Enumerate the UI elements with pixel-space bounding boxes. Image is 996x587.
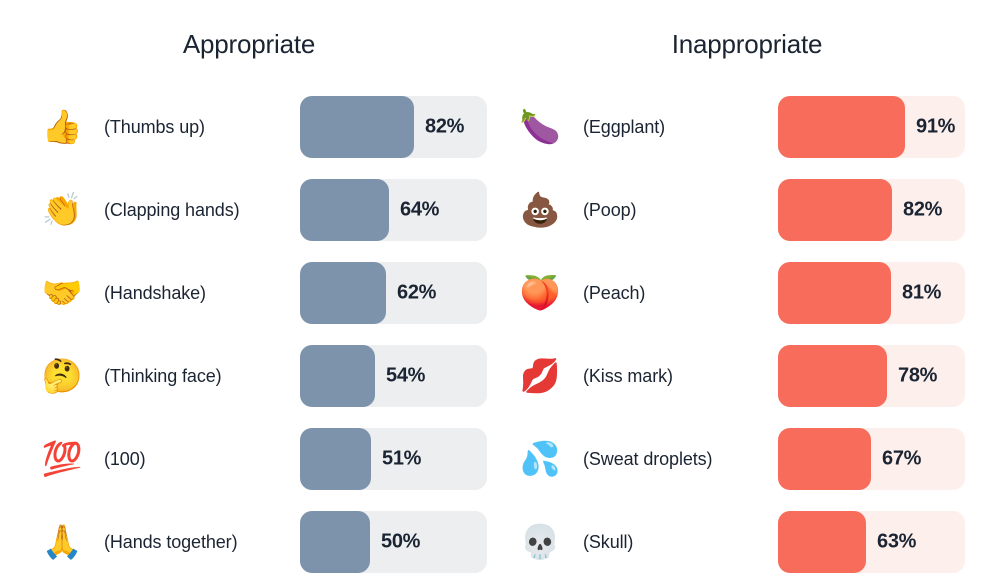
handshake-icon: 🤝 bbox=[40, 274, 84, 312]
bar-label: (Kiss mark) bbox=[583, 364, 673, 388]
bar-value: 78% bbox=[898, 364, 937, 387]
bar-fill bbox=[778, 96, 905, 158]
bar-fill bbox=[300, 428, 371, 490]
bar-label: (Thumbs up) bbox=[104, 115, 205, 139]
sweat-droplets-icon: 💦 bbox=[518, 440, 562, 478]
bar-track: 82% bbox=[300, 96, 487, 158]
bar-row: 🍆(Eggplant)91% bbox=[498, 85, 996, 168]
bar-row: 👍(Thumbs up)82% bbox=[0, 85, 498, 168]
bar-fill bbox=[300, 179, 389, 241]
bar-fill bbox=[300, 345, 375, 407]
kiss-mark-icon: 💋 bbox=[518, 357, 562, 395]
bar-row: 🙏(Hands together)50% bbox=[0, 500, 498, 583]
bar-track: 51% bbox=[300, 428, 487, 490]
bar-row: 👏(Clapping hands)64% bbox=[0, 168, 498, 251]
eggplant-icon: 🍆 bbox=[518, 108, 562, 146]
peach-icon: 🍑 bbox=[518, 274, 562, 312]
folded-hands-icon: 🙏 bbox=[40, 523, 84, 561]
bar-track: 78% bbox=[778, 345, 965, 407]
bar-row: 🤔(Thinking face)54% bbox=[0, 334, 498, 417]
bar-label: (Handshake) bbox=[104, 281, 206, 305]
pile-of-poo-icon: 💩 bbox=[518, 191, 562, 229]
bar-fill bbox=[300, 96, 414, 158]
bar-label: (Eggplant) bbox=[583, 115, 665, 139]
bar-fill bbox=[778, 428, 871, 490]
bar-value: 63% bbox=[877, 530, 916, 553]
bar-fill bbox=[778, 511, 866, 573]
bar-label: (Peach) bbox=[583, 281, 645, 305]
bar-track: 64% bbox=[300, 179, 487, 241]
bar-track: 67% bbox=[778, 428, 965, 490]
chart-columns: Appropriate 👍(Thumbs up)82%👏(Clapping ha… bbox=[0, 0, 996, 587]
bar-track: 54% bbox=[300, 345, 487, 407]
bar-value: 82% bbox=[903, 198, 942, 221]
thinking-face-icon: 🤔 bbox=[40, 357, 84, 395]
bar-value: 67% bbox=[882, 447, 921, 470]
hundred-points-icon: 💯 bbox=[40, 440, 84, 478]
bar-track: 62% bbox=[300, 262, 487, 324]
bar-label: (100) bbox=[104, 447, 146, 471]
bar-label: (Thinking face) bbox=[104, 364, 222, 388]
bar-label: (Sweat droplets) bbox=[583, 447, 712, 471]
bar-fill bbox=[778, 179, 892, 241]
inappropriate-panel: Inappropriate 🍆(Eggplant)91%💩(Poop)82%🍑(… bbox=[498, 0, 996, 587]
bar-label: (Hands together) bbox=[104, 530, 237, 554]
bar-track: 91% bbox=[778, 96, 965, 158]
bar-label: (Poop) bbox=[583, 198, 636, 222]
bar-value: 64% bbox=[400, 198, 439, 221]
bar-label: (Clapping hands) bbox=[104, 198, 239, 222]
bar-fill bbox=[300, 262, 386, 324]
appropriate-panel-title: Appropriate bbox=[0, 27, 498, 61]
bar-row: 🤝(Handshake)62% bbox=[0, 251, 498, 334]
bar-row: 💋(Kiss mark)78% bbox=[498, 334, 996, 417]
appropriate-rows: 👍(Thumbs up)82%👏(Clapping hands)64%🤝(Han… bbox=[0, 85, 498, 583]
bar-value: 54% bbox=[386, 364, 425, 387]
bar-fill bbox=[778, 345, 887, 407]
inappropriate-rows: 🍆(Eggplant)91%💩(Poop)82%🍑(Peach)81%💋(Kis… bbox=[498, 85, 996, 583]
bar-track: 81% bbox=[778, 262, 965, 324]
bar-row: 💦(Sweat droplets)67% bbox=[498, 417, 996, 500]
appropriate-panel: Appropriate 👍(Thumbs up)82%👏(Clapping ha… bbox=[0, 0, 498, 587]
bar-track: 63% bbox=[778, 511, 965, 573]
clapping-hands-icon: 👏 bbox=[40, 191, 84, 229]
inappropriate-panel-title: Inappropriate bbox=[498, 27, 996, 61]
bar-track: 82% bbox=[778, 179, 965, 241]
bar-value: 51% bbox=[382, 447, 421, 470]
thumbs-up-icon: 👍 bbox=[40, 108, 84, 146]
bar-fill bbox=[300, 511, 370, 573]
bar-row: 💀(Skull)63% bbox=[498, 500, 996, 583]
bar-value: 91% bbox=[916, 115, 955, 138]
bar-value: 50% bbox=[381, 530, 420, 553]
bar-value: 81% bbox=[902, 281, 941, 304]
bar-row: 💯(100)51% bbox=[0, 417, 498, 500]
bar-fill bbox=[778, 262, 891, 324]
bar-value: 82% bbox=[425, 115, 464, 138]
bar-row: 💩(Poop)82% bbox=[498, 168, 996, 251]
bar-row: 🍑(Peach)81% bbox=[498, 251, 996, 334]
skull-icon: 💀 bbox=[518, 523, 562, 561]
bar-value: 62% bbox=[397, 281, 436, 304]
bar-label: (Skull) bbox=[583, 530, 633, 554]
bar-track: 50% bbox=[300, 511, 487, 573]
emoji-appropriateness-chart: Appropriate 👍(Thumbs up)82%👏(Clapping ha… bbox=[0, 0, 996, 587]
